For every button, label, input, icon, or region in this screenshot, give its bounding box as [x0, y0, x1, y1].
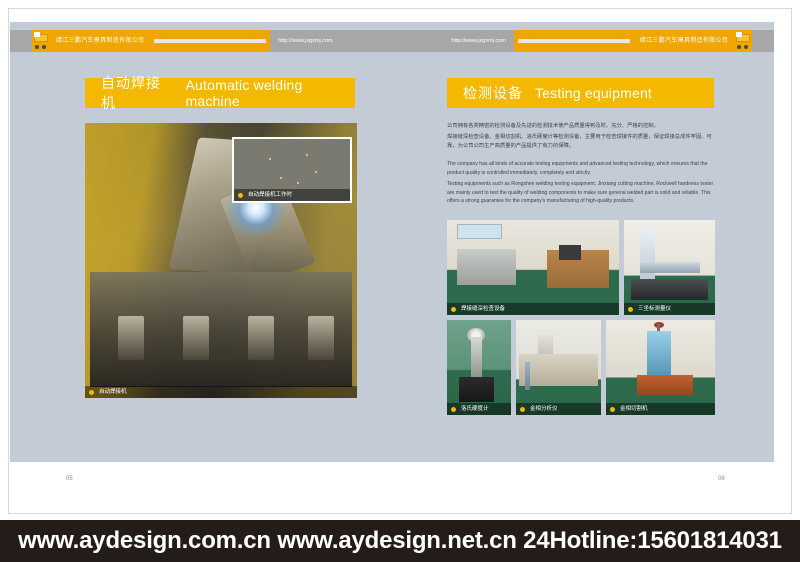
photo-weld-depth-inspection-lab: 焊接缝深检查设备	[447, 220, 619, 315]
page-number-left: 05	[66, 476, 73, 482]
left-banner-cn: 自动焊接机	[101, 73, 173, 113]
header-right-cap	[752, 30, 774, 52]
photo-caption: 焊接缝深检查设备	[447, 303, 619, 315]
header-rule-right	[514, 30, 634, 52]
header-company-left: 靖江三鹏汽车模具制造有限公司	[50, 30, 150, 52]
header-company-right: 靖江三鹏汽车模具制造有限公司	[634, 30, 734, 52]
header-left-cap	[10, 30, 32, 52]
header-spacer	[341, 30, 444, 52]
photo-welding-arc-closeup: 自动焊接机工作时	[232, 137, 352, 203]
header-bar: 靖江三鹏汽车模具制造有限公司 http://www.jxgxmj.com htt…	[10, 30, 774, 52]
left-banner-en: Automatic welding machine	[185, 77, 355, 109]
right-page-paragraph-cn-1: 公司拥有各类精密的检测设备及先进的检测技术使产品质量得到及时、充分、严格的控制。	[447, 122, 715, 131]
page-number-right: 06	[718, 476, 725, 482]
header-url-left[interactable]: http://www.jxgxmj.com	[270, 30, 340, 52]
right-page-title-banner: 检测设备 Testing equipment	[447, 78, 714, 108]
right-page-paragraph-en-1: The company has all kinds of accurate te…	[447, 160, 715, 177]
photo-caption: 三坐标测量仪	[624, 303, 715, 315]
photo-metallographic-analyzer: 金相分析仪	[516, 320, 601, 415]
header-rule-left	[150, 30, 270, 52]
photo-caption: 金相分析仪	[516, 403, 601, 415]
truck-icon	[32, 30, 50, 52]
footer-text: www.aydesign.com.cn www.aydesign.net.cn …	[18, 527, 782, 555]
photo-metallographic-cutting-machine: 金相切割机	[606, 320, 715, 415]
left-page-title-banner: 自动焊接机 Automatic welding machine	[85, 78, 355, 108]
photo-rockwell-hardness-tester: 洛氏硬度计	[447, 320, 511, 415]
footer-bar: www.aydesign.com.cn www.aydesign.net.cn …	[0, 520, 800, 562]
photo-caption: 自动焊接机	[85, 386, 357, 398]
right-banner-cn: 检测设备	[463, 83, 523, 103]
photo-caption: 洛氏硬度计	[447, 403, 511, 415]
photo-coordinate-measuring-machine: 三坐标测量仪	[624, 220, 715, 315]
photo-caption: 自动焊接机工作时	[234, 189, 350, 201]
header-url-right[interactable]: http://www.jxgxmj.com	[443, 30, 513, 52]
right-banner-en: Testing equipment	[535, 85, 652, 101]
photo-caption: 金相切割机	[606, 403, 715, 415]
right-page-paragraph-cn-2: 焊接缝深检查设备、金相切割机、洛氏硬度计等检测设备，主要用于检查焊接件的质量，保…	[447, 133, 715, 151]
right-page-paragraph-en-2: Testing equipments such as Rongshen weld…	[447, 180, 715, 206]
truck-icon-right	[734, 30, 752, 52]
